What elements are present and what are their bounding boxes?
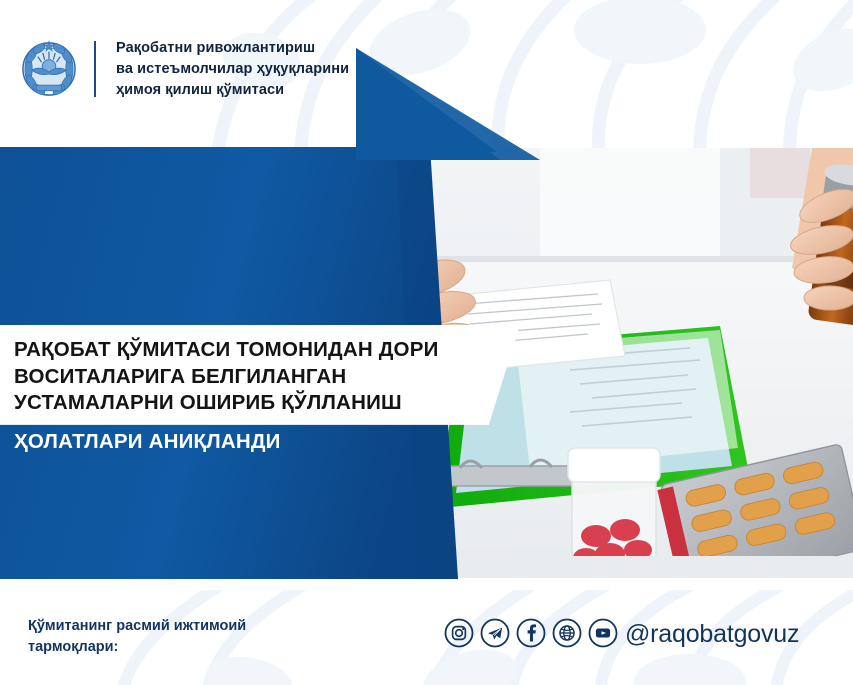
headline-block: РАҚОБАТ ҚЎМИТАСИ ТОМОНИДАН ДОРИ ВОСИТАЛА… <box>0 325 540 462</box>
social-handle[interactable]: @raqobatgovuz <box>625 620 799 649</box>
headline-line-4: ҲОЛАТЛАРИ АНИҚЛАНДИ <box>14 429 526 456</box>
uzbekistan-state-emblem-icon <box>18 38 80 100</box>
headline-line-1: РАҚОБАТ ҚЎМИТАСИ ТОМОНИДАН ДОРИ <box>14 337 506 364</box>
headline-line-3: УСТАМАЛАРНИ ОШИРИБ ҚЎЛЛАНИШ <box>14 390 506 417</box>
social-icon-row <box>444 618 618 648</box>
website-globe-icon[interactable] <box>552 618 582 648</box>
facebook-icon[interactable] <box>516 618 546 648</box>
poster-footer: Қўмитанинг расмий ижтимоий тармоқлари: <box>0 590 853 685</box>
headline-white-box: РАҚОБАТ ҚЎМИТАСИ ТОМОНИДАН ДОРИ ВОСИТАЛА… <box>0 325 520 425</box>
instagram-icon[interactable] <box>444 618 474 648</box>
poster-canvas: Рақобатни ривожлантириш ва истеъмолчилар… <box>0 0 853 685</box>
poster-header: Рақобатни ривожлантириш ва истеъмолчилар… <box>0 0 853 148</box>
headline-line-2: ВОСИТАЛАРИГА БЕЛГИЛАНГАН <box>14 364 506 391</box>
social-networks-label: Қўмитанинг расмий ижтимоий тармоқлари: <box>28 616 246 657</box>
header-divider <box>94 41 96 97</box>
telegram-icon[interactable] <box>480 618 510 648</box>
organization-name: Рақобатни ривожлантириш ва истеъмолчилар… <box>116 38 349 101</box>
header-identity: Рақобатни ривожлантириш ва истеъмолчилар… <box>18 38 349 101</box>
youtube-icon[interactable] <box>588 618 618 648</box>
headline-blue-box: ҲОЛАТЛАРИ АНИҚЛАНДИ <box>0 427 540 462</box>
